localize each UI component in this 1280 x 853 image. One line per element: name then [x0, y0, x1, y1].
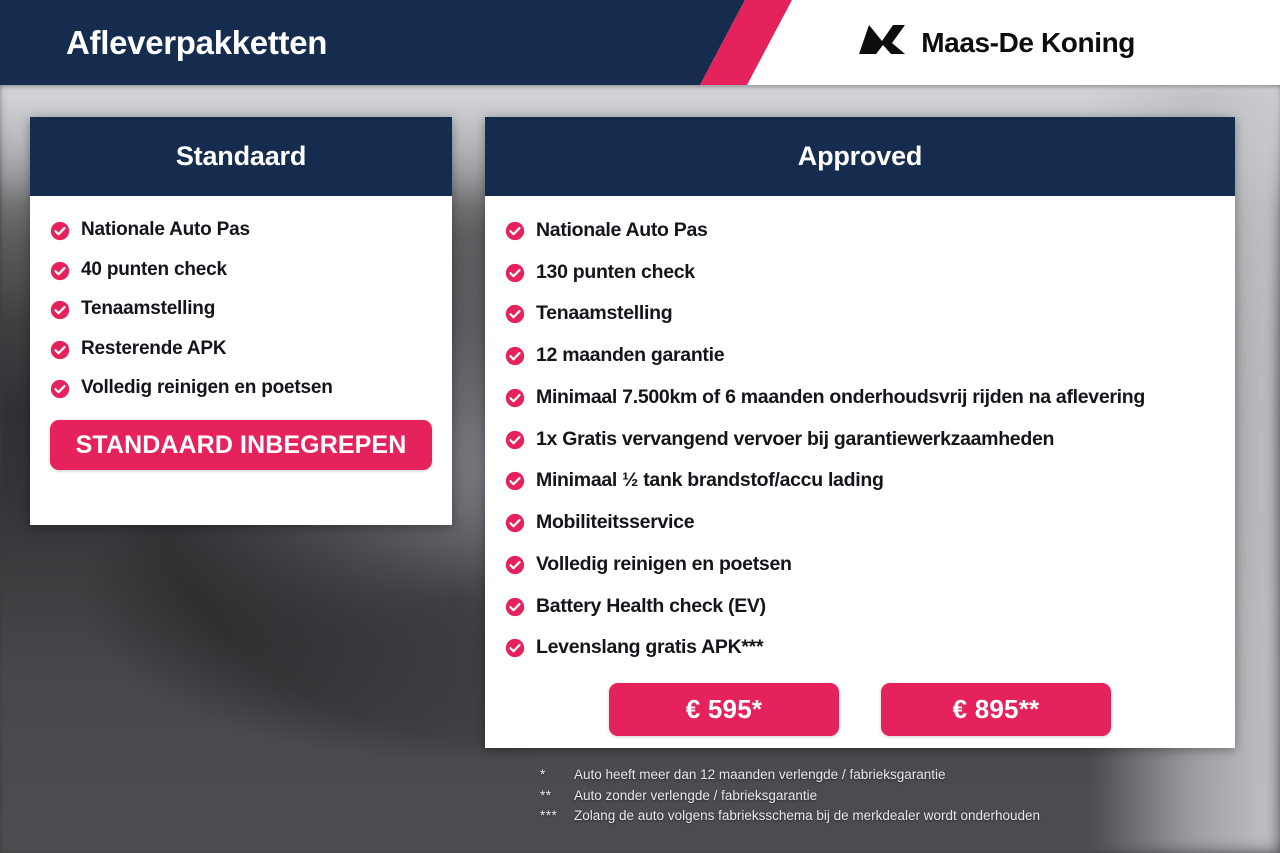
price-button[interactable]: € 595* — [609, 683, 839, 736]
feature-label: Battery Health check (EV) — [536, 594, 766, 620]
feature-label: Tenaamstelling — [536, 301, 672, 327]
card-body-approved: Nationale Auto Pas130 punten checkTenaam… — [485, 196, 1235, 736]
package-card-standaard: Standaard Nationale Auto Pas40 punten ch… — [30, 117, 452, 525]
feature-label: Levenslang gratis APK*** — [536, 635, 763, 661]
footnote-text: Auto heeft meer dan 12 maanden verlengde… — [574, 765, 946, 786]
check-circle-icon — [505, 552, 525, 575]
footnote-marker: * — [540, 765, 574, 786]
feature-label: 1x Gratis vervangend vervoer bij garanti… — [536, 427, 1054, 453]
footnote-row: *Auto heeft meer dan 12 maanden verlengd… — [540, 765, 1040, 786]
card-body-standaard: Nationale Auto Pas40 punten checkTenaams… — [30, 196, 452, 470]
check-circle-icon — [50, 378, 70, 399]
feature-item: Tenaamstelling — [505, 301, 1215, 327]
feature-item: Tenaamstelling — [50, 299, 432, 320]
feature-label: 12 maanden garantie — [536, 343, 724, 369]
feature-item: 40 punten check — [50, 260, 432, 281]
check-circle-icon — [505, 385, 525, 408]
check-circle-icon — [505, 301, 525, 324]
feature-item: 12 maanden garantie — [505, 343, 1215, 369]
price-button-row: € 595*€ 895** — [505, 683, 1215, 736]
feature-item: Resterende APK — [50, 339, 432, 360]
feature-item: 130 punten check — [505, 260, 1215, 286]
page-title: Afleverpakketten — [66, 0, 327, 85]
footnotes: *Auto heeft meer dan 12 maanden verlengd… — [540, 765, 1040, 827]
footnote-text: Zolang de auto volgens fabrieksschema bi… — [574, 806, 1040, 827]
feature-label: 130 punten check — [536, 260, 695, 286]
feature-list-standaard: Nationale Auto Pas40 punten checkTenaams… — [50, 220, 432, 399]
feature-item: Volledig reinigen en poetsen — [50, 378, 432, 399]
check-circle-icon — [50, 260, 70, 281]
check-circle-icon — [50, 339, 70, 360]
check-circle-icon — [50, 220, 70, 241]
footnote-marker: *** — [540, 806, 574, 827]
page-banner: Afleverpakketten Maas-De Koning — [0, 0, 1280, 85]
check-circle-icon — [505, 635, 525, 658]
package-card-approved: Approved Nationale Auto Pas130 punten ch… — [485, 117, 1235, 748]
maas-de-koning-logo-icon — [857, 21, 907, 64]
feature-label: Minimaal ½ tank brandstof/accu lading — [536, 468, 884, 494]
card-title-approved: Approved — [485, 117, 1235, 196]
check-circle-icon — [505, 343, 525, 366]
feature-item: Battery Health check (EV) — [505, 594, 1215, 620]
footnote-row: **Auto zonder verlengde / fabrieksgarant… — [540, 786, 1040, 807]
standaard-included-button[interactable]: STANDAARD INBEGREPEN — [50, 420, 432, 470]
feature-list-approved: Nationale Auto Pas130 punten checkTenaam… — [505, 218, 1215, 661]
footnote-text: Auto zonder verlengde / fabrieksgarantie — [574, 786, 817, 807]
banner-underline — [0, 85, 1280, 89]
feature-label: 40 punten check — [81, 260, 227, 279]
feature-label: Tenaamstelling — [81, 299, 215, 318]
feature-item: Nationale Auto Pas — [50, 220, 432, 241]
footnote-row: ***Zolang de auto volgens fabrieksschema… — [540, 806, 1040, 827]
brand-name: Maas-De Koning — [921, 27, 1135, 59]
check-circle-icon — [50, 299, 70, 320]
feature-label: Minimaal 7.500km of 6 maanden onderhouds… — [536, 385, 1145, 411]
feature-label: Nationale Auto Pas — [81, 220, 250, 239]
feature-item: 1x Gratis vervangend vervoer bij garanti… — [505, 427, 1215, 453]
feature-item: Volledig reinigen en poetsen — [505, 552, 1215, 578]
check-circle-icon — [505, 260, 525, 283]
feature-label: Volledig reinigen en poetsen — [536, 552, 792, 578]
feature-label: Volledig reinigen en poetsen — [81, 378, 333, 397]
check-circle-icon — [505, 218, 525, 241]
feature-label: Nationale Auto Pas — [536, 218, 708, 244]
check-circle-icon — [505, 510, 525, 533]
feature-item: Levenslang gratis APK*** — [505, 635, 1215, 661]
feature-item: Mobiliteitsservice — [505, 510, 1215, 536]
brand-lockup: Maas-De Koning — [857, 0, 1135, 85]
check-circle-icon — [505, 468, 525, 491]
feature-label: Mobiliteitsservice — [536, 510, 694, 536]
check-circle-icon — [505, 594, 525, 617]
price-button[interactable]: € 895** — [881, 683, 1111, 736]
footnote-marker: ** — [540, 786, 574, 807]
feature-item: Minimaal ½ tank brandstof/accu lading — [505, 468, 1215, 494]
feature-item: Nationale Auto Pas — [505, 218, 1215, 244]
card-title-standaard: Standaard — [30, 117, 452, 196]
feature-label: Resterende APK — [81, 339, 226, 358]
feature-item: Minimaal 7.500km of 6 maanden onderhouds… — [505, 385, 1215, 411]
check-circle-icon — [505, 427, 525, 450]
